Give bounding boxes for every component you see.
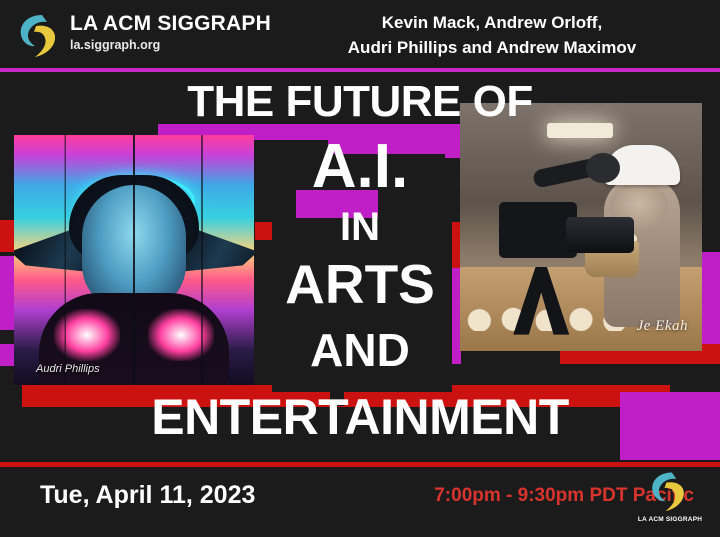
poster-artwork-stage: Audri Phillips Je Ekah [0, 72, 720, 460]
siggraph-swirl-logo-icon [643, 467, 697, 513]
artwork-right-ceiling-light [547, 123, 613, 138]
decor-dark-plate [272, 222, 452, 392]
event-date: Tue, April 11, 2023 [40, 481, 255, 510]
artwork-left-wires [14, 135, 254, 385]
corner-siggraph-logo: LA ACM SIGGRAPH [632, 467, 708, 529]
poster-header: LA ACM SIGGRAPH la.siggraph.org Kevin Ma… [0, 0, 720, 68]
decor-magenta-edge-right [700, 252, 720, 348]
speaker-list: Kevin Mack, Andrew Orloff, Audri Phillip… [282, 10, 702, 60]
event-poster: LA ACM SIGGRAPH la.siggraph.org Kevin Ma… [0, 0, 720, 537]
decor-dark-notch [330, 390, 344, 406]
org-identity: LA ACM SIGGRAPH la.siggraph.org [70, 12, 271, 53]
speaker-line-2: Audri Phillips and Andrew Maximov [282, 35, 702, 60]
siggraph-swirl-logo-icon [12, 6, 68, 62]
artwork-right-credit: Je Ekah [637, 318, 688, 335]
corner-logo-label: LA ACM SIGGRAPH [632, 516, 708, 523]
artwork-right-camera-body [499, 202, 577, 258]
speaker-line-1: Kevin Mack, Andrew Orloff, [282, 10, 702, 35]
org-name: LA ACM SIGGRAPH [70, 12, 271, 36]
artwork-right-mic-windscreen [586, 153, 620, 183]
org-url[interactable]: la.siggraph.org [70, 37, 271, 53]
decor-magenta-block-mid [296, 190, 378, 218]
artwork-left: Audri Phillips [14, 135, 254, 385]
artwork-left-credit: Audri Phillips [36, 363, 100, 375]
artwork-right: Je Ekah [460, 103, 702, 351]
artwork-right-camera-lens [566, 217, 634, 253]
poster-footer: Tue, April 11, 2023 7:00pm - 9:30pm PDT … [0, 467, 720, 537]
decor-magenta-block-corner [620, 392, 720, 460]
